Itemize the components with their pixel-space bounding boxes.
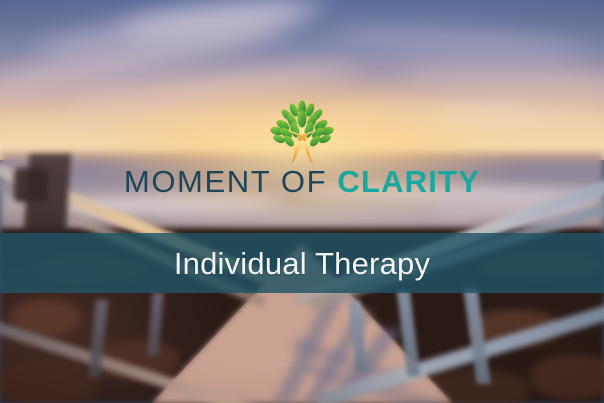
brand-name-bold: CLARITY [337, 164, 480, 199]
tree-person-logo-icon [267, 100, 337, 166]
page-title: Individual Therapy [174, 248, 430, 279]
background-photo [0, 0, 604, 403]
rock [530, 355, 604, 399]
brand-name-light: MOMENT OF [124, 164, 327, 199]
brand-wordmark: MOMENT OF CLARITY [0, 166, 604, 197]
title-banner: Individual Therapy [0, 233, 604, 293]
rock [0, 360, 100, 403]
promo-banner-image: MOMENT OF CLARITY Individual Therapy [0, 0, 604, 403]
